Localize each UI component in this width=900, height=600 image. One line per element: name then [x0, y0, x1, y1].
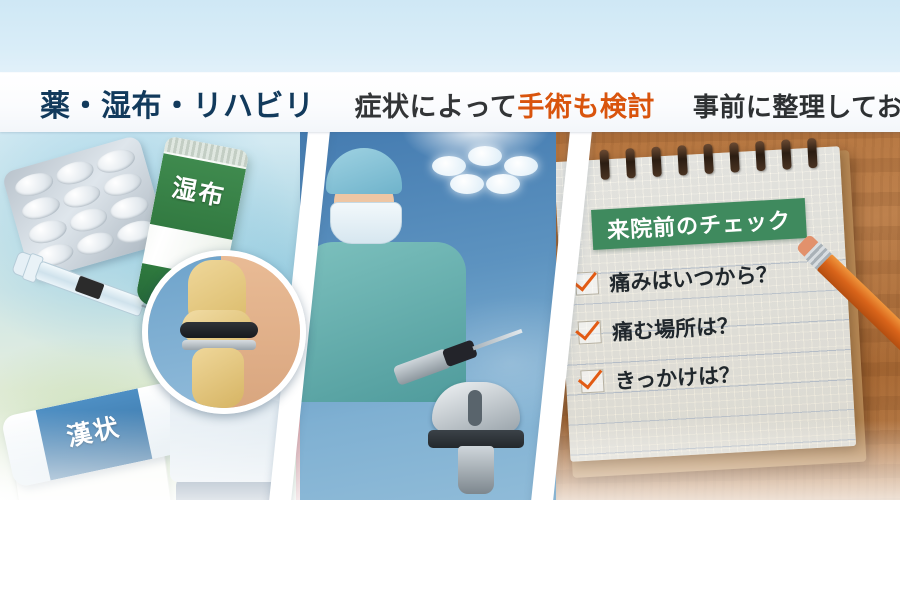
surgery-panel [300, 130, 556, 550]
operating-lamp-icon [428, 144, 544, 196]
headline-segment-3: 事前に整理しておくと安心 [693, 87, 900, 124]
bottom-fade [0, 500, 900, 600]
checkmark-icon[interactable] [580, 369, 604, 393]
surgical-mask-icon [330, 202, 402, 244]
checklist-item-label: 痛む場所は？ [611, 309, 738, 346]
checklist-panel: 来院前のチェック 痛みはいつから？ 痛む場所は？ きっかけは？ [548, 130, 900, 550]
checkmark-icon[interactable] [578, 320, 602, 344]
illustration-canvas: 湿布 漢状 [0, 0, 900, 600]
headline-segment-2: 症状によって手術も検討 [355, 85, 655, 124]
headline-segment-2-prefix: 症状によって [355, 92, 518, 122]
checklist-item-label: きっかけは？ [614, 358, 741, 395]
checklist: 痛みはいつから？ 痛む場所は？ きっかけは？ [574, 245, 852, 407]
headline-banner: 薬・湿布・リハビリ 症状によって手術も検討 事前に整理しておくと安心 [0, 73, 900, 132]
surgeon-body [300, 242, 466, 402]
checkmark-icon[interactable] [575, 271, 599, 295]
panel-group: 湿布 漢状 [0, 130, 900, 550]
checklist-item-label: 痛みはいつから？ [609, 258, 778, 297]
checklist-header-label: 来院前のチェック [606, 203, 792, 245]
headline-segment-2-highlight: 手術も検討 [517, 92, 655, 122]
knee-joint-closeup [142, 250, 306, 414]
headline-segment-1: 薬・湿布・リハビリ [40, 81, 315, 125]
knee-implant-model [428, 382, 524, 494]
